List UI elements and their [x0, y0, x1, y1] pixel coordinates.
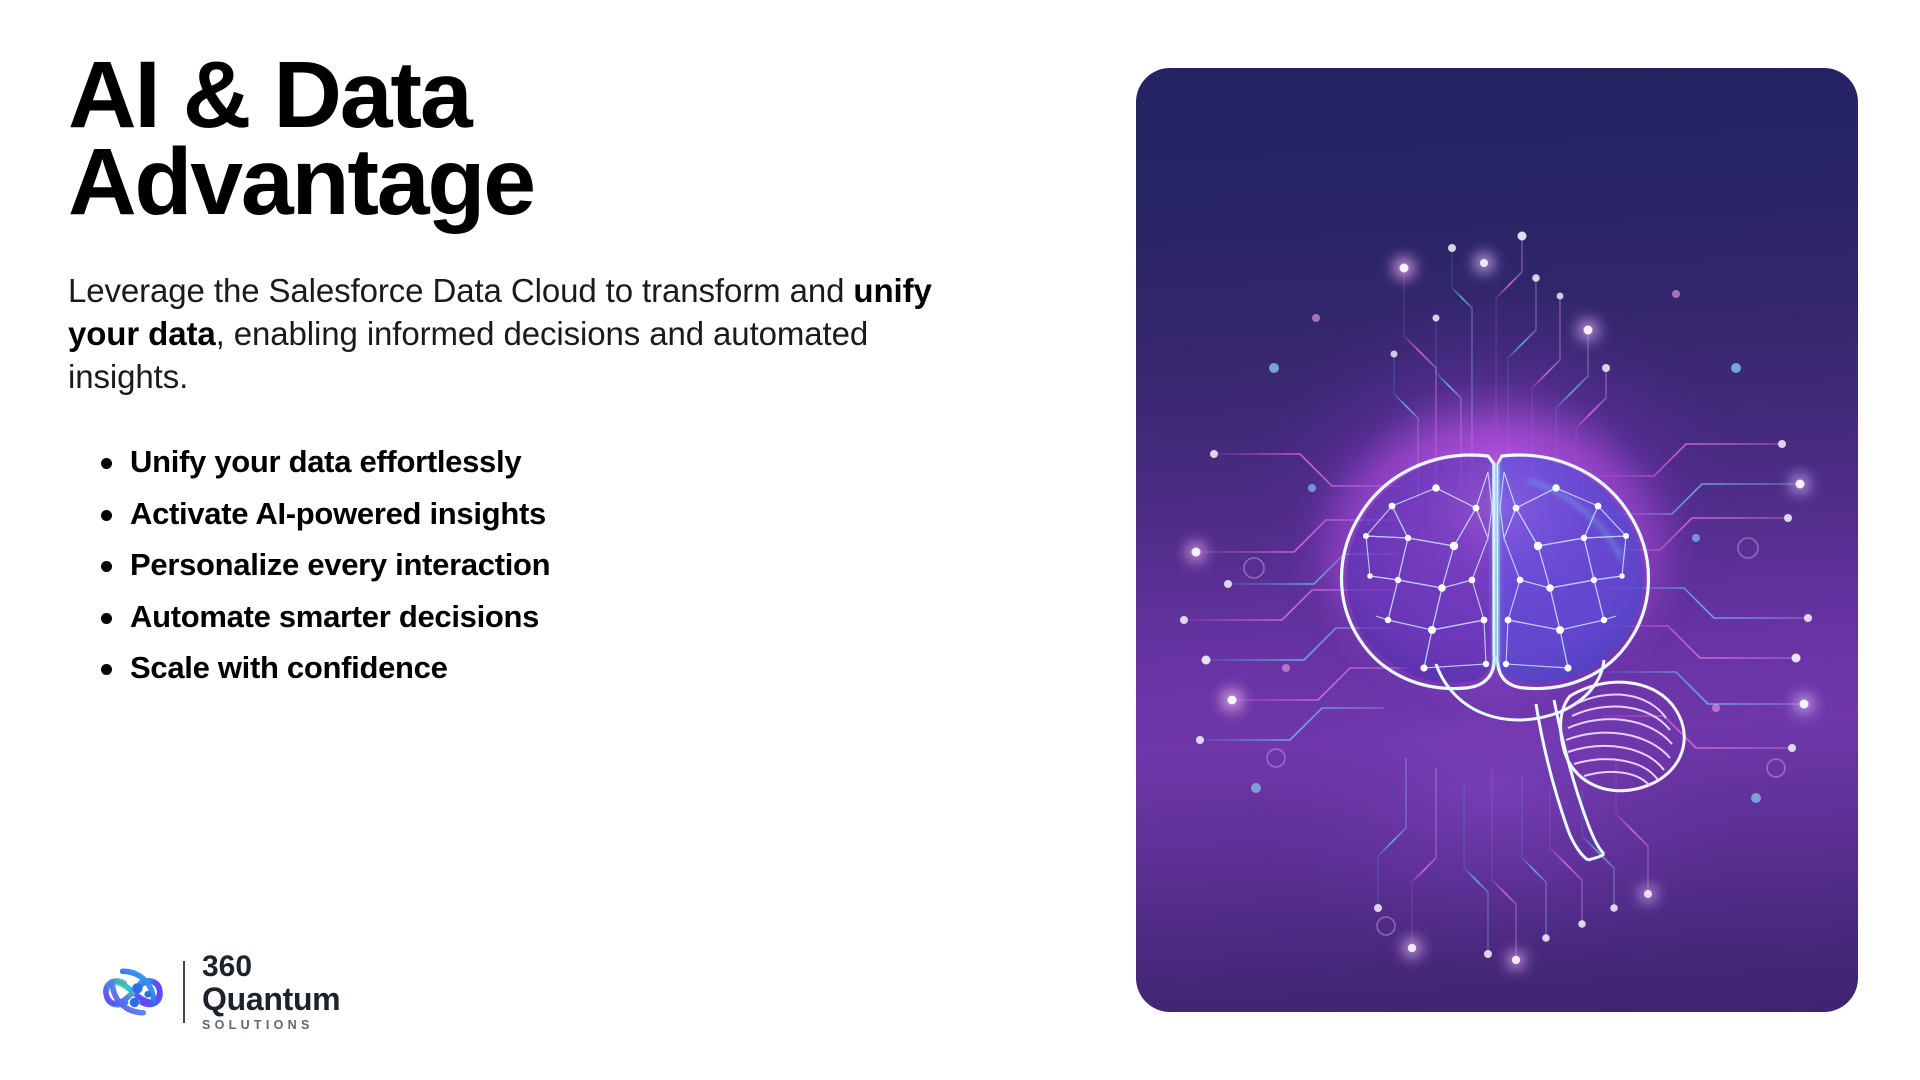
ai-brain-illustration [1136, 68, 1858, 1012]
benefits-list: Unify your data effortlessly Activate AI… [68, 446, 968, 683]
intro-paragraph: Leverage the Salesforce Data Cloud to tr… [68, 269, 948, 399]
list-item: Scale with confidence [130, 652, 968, 683]
logo-divider [183, 961, 185, 1023]
logo-wordmark: 360 Quantum SOLUTIONS [198, 952, 340, 1032]
atom-dot [130, 997, 139, 1006]
list-item: Personalize every interaction [130, 549, 968, 580]
logo-tagline: SOLUTIONS [202, 1019, 340, 1032]
hero-image-card [1136, 68, 1858, 1012]
content-column: AI & Data Advantage Leverage the Salesfo… [68, 52, 968, 704]
brand-logo: 360 Quantum SOLUTIONS [96, 952, 340, 1032]
slide-root: AI & Data Advantage Leverage the Salesfo… [0, 0, 1920, 1080]
logo-brand-360: 360 [202, 952, 340, 983]
quantum-atom-swirl-icon [96, 955, 170, 1029]
atom-dot [144, 991, 151, 998]
atom-dot [132, 983, 142, 993]
list-item: Automate smarter decisions [130, 601, 968, 632]
list-item: Activate AI-powered insights [130, 498, 968, 529]
list-item: Unify your data effortlessly [130, 446, 968, 477]
logo-brand-quantum: Quantum [202, 983, 340, 1017]
page-title: AI & Data Advantage [68, 52, 968, 227]
intro-text-before: Leverage the Salesforce Data Cloud to tr… [68, 272, 853, 309]
